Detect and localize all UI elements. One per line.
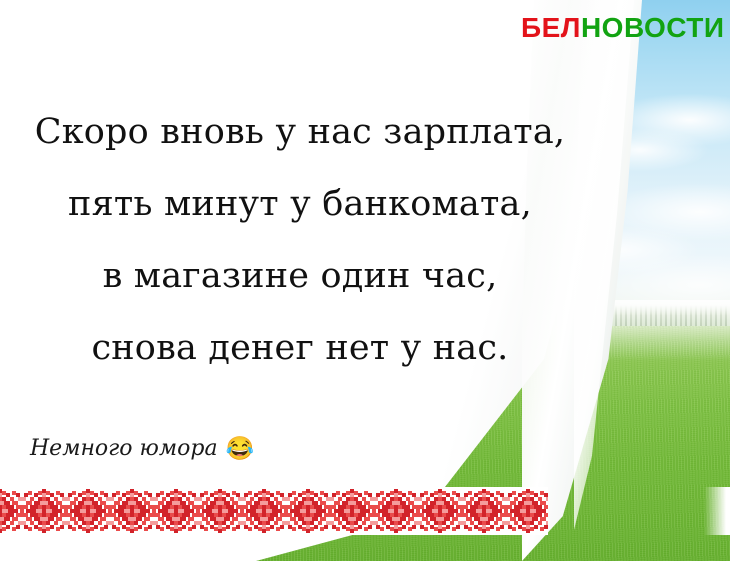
meme-card: БЕЛНОВОСТИ Скоро вновь у нас зарплата, п…	[0, 0, 730, 561]
poem-line-3: в магазине один час,	[0, 240, 600, 312]
laughing-emoji-icon: 😂	[226, 437, 255, 460]
caption-block: Немного юмора 😂	[30, 436, 254, 461]
poem-line-4: снова денег нет у нас.	[0, 312, 600, 384]
caption-text: Немного юмора	[30, 436, 218, 461]
logo-text-bel: БЕЛ	[521, 12, 581, 43]
ornament-pattern-svg	[0, 487, 548, 535]
brand-logo[interactable]: БЕЛНОВОСТИ	[521, 14, 725, 42]
logo-text-novosti: НОВОСТИ	[581, 12, 725, 43]
poem-line-1: Скоро вновь у нас зарплата,	[0, 96, 600, 168]
poem-line-2: пять минут у банкомата,	[0, 168, 600, 240]
poem-block: Скоро вновь у нас зарплата, пять минут у…	[0, 96, 600, 384]
ornament-border	[0, 487, 548, 535]
